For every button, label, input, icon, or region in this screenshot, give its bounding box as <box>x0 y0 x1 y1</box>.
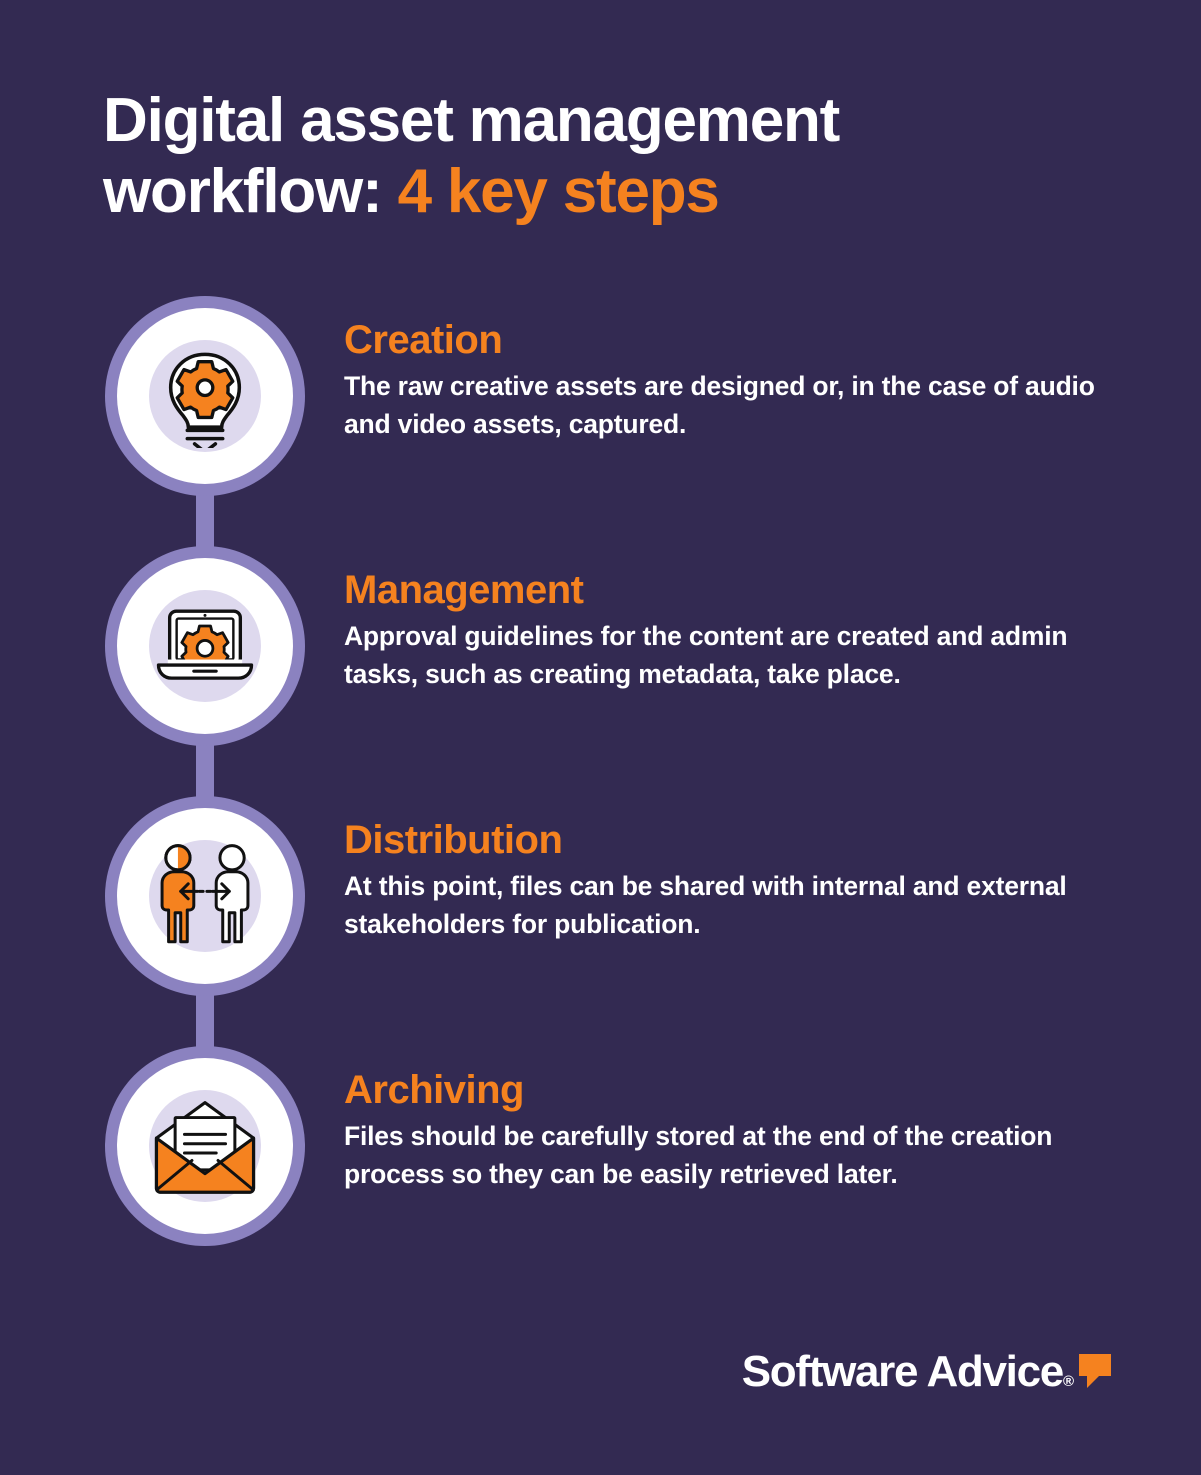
infographic-page: { "title": { "line1": "Digital asset man… <box>0 0 1201 1475</box>
step-title: Distribution <box>344 818 1144 862</box>
step-description: Approval guidelines for the content are … <box>344 618 1104 693</box>
title-line-2-plain: workflow: <box>103 157 398 226</box>
step-text-block: Archiving Files should be carefully stor… <box>344 1068 1144 1193</box>
step-description: Files should be carefully stored at the … <box>344 1118 1104 1193</box>
speech-bubble-icon <box>1077 1352 1113 1395</box>
brand-name-text: Software Advice <box>742 1347 1063 1396</box>
step-badge-inner <box>117 558 293 734</box>
open-envelope-letter-icon <box>146 1087 264 1205</box>
page-title: Digital asset management workflow: 4 key… <box>103 86 1063 227</box>
step-text-block: Distribution At this point, files can be… <box>344 818 1144 943</box>
step-title: Archiving <box>344 1068 1144 1112</box>
workflow-step: Archiving Files should be carefully stor… <box>0 1046 1201 1246</box>
step-badge-inner <box>117 808 293 984</box>
step-badge <box>105 296 305 496</box>
workflow-step: Creation The raw creative assets are des… <box>0 296 1201 546</box>
workflow-step: Management Approval guidelines for the c… <box>0 546 1201 796</box>
step-badge <box>105 1046 305 1246</box>
workflow-step: Distribution At this point, files can be… <box>0 796 1201 1046</box>
two-people-exchange-icon <box>146 837 264 955</box>
step-badge <box>105 796 305 996</box>
step-text-block: Management Approval guidelines for the c… <box>344 568 1144 693</box>
brand-name: Software Advice® <box>742 1350 1074 1394</box>
workflow-steps-list: Creation The raw creative assets are des… <box>0 296 1201 1246</box>
brand-logo: Software Advice® <box>742 1350 1113 1395</box>
step-text-block: Creation The raw creative assets are des… <box>344 318 1144 443</box>
step-description: The raw creative assets are designed or,… <box>344 368 1104 443</box>
step-badge-inner <box>117 1058 293 1234</box>
title-line-2: workflow: 4 key steps <box>103 157 1063 228</box>
step-title: Creation <box>344 318 1144 362</box>
laptop-gear-icon <box>146 587 264 705</box>
title-line-2-accent: 4 key steps <box>398 157 719 226</box>
lightbulb-gear-icon <box>146 337 264 455</box>
step-badge-inner <box>117 308 293 484</box>
step-description: At this point, files can be shared with … <box>344 868 1104 943</box>
title-line-1: Digital asset management <box>103 86 1063 157</box>
registered-trademark-mark: ® <box>1063 1373 1074 1390</box>
step-badge <box>105 546 305 746</box>
step-title: Management <box>344 568 1144 612</box>
